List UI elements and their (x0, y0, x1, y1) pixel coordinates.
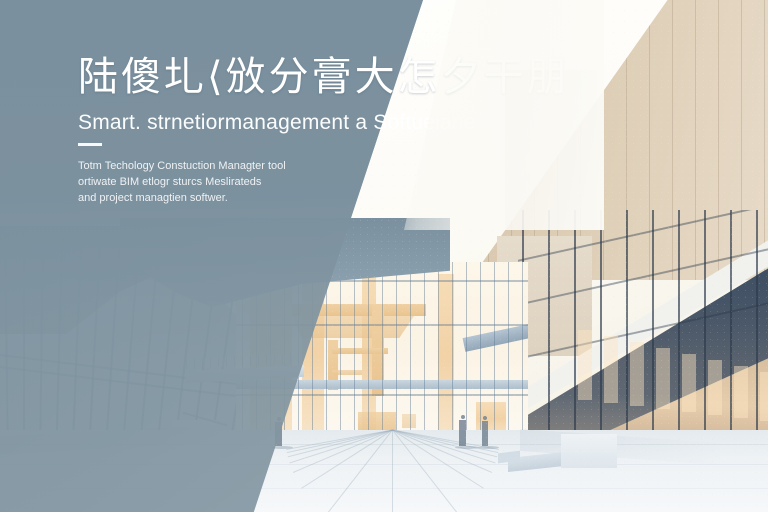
right-building-reflection (734, 366, 748, 418)
atrium-mullion (522, 262, 523, 457)
atrium-mullion (354, 262, 355, 457)
person-shadow (478, 446, 499, 449)
atrium-mullion (480, 262, 481, 457)
right-building-reflection (682, 354, 696, 412)
right-building-reflection (578, 330, 592, 400)
atrium-crate (358, 412, 396, 430)
bench (561, 434, 617, 468)
atrium-canopy (463, 317, 528, 351)
plaza-joint-line (392, 430, 393, 512)
atrium-mullion (438, 262, 439, 457)
atrium-mullion (424, 262, 425, 457)
right-building-reflection (656, 348, 670, 409)
atrium-mullion (508, 262, 509, 457)
atrium-mullion (452, 262, 453, 457)
right-building-reflection (604, 336, 618, 403)
body-copy: Totm Techology Constuction Managter tool… (78, 159, 498, 206)
atrium-mullion (410, 262, 411, 457)
right-building-reflection (760, 372, 768, 421)
atrium-mullion (466, 262, 467, 457)
atrium-mullion (494, 262, 495, 457)
atrium-mullion (340, 262, 341, 457)
atrium-beam (332, 370, 362, 375)
atrium-crate (402, 414, 416, 428)
right-building-reflection (630, 342, 644, 406)
headline-block: 陆傻圠⟨攽分膏大怎夕干朋 Smart. strnetiormanagement … (78, 54, 498, 206)
atrium-mullion (368, 262, 369, 457)
atrium-mullion (382, 262, 383, 457)
body-line-1: Totm Techology Constuction Managter tool (78, 159, 498, 175)
person-figure (459, 420, 466, 446)
body-line-3: and project managtien softwer. (78, 191, 498, 207)
render-banner: 陆傻圠⟨攽分膏大怎夕干朋 Smart. strnetiormanagement … (0, 0, 768, 512)
person-figure (482, 421, 488, 446)
person-shadow (455, 446, 479, 449)
right-building-reflection (708, 360, 722, 415)
atrium-mullion (396, 262, 397, 457)
headline-english: Smart. strnetiormanagement a Softueiane (78, 110, 498, 135)
accent-rule (78, 143, 102, 146)
headline-chinese: 陆傻圠⟨攽分膏大怎夕干朋 (78, 54, 498, 101)
body-line-2: ortiwate BIM etlogr sturcs Meslirateds (78, 175, 498, 191)
